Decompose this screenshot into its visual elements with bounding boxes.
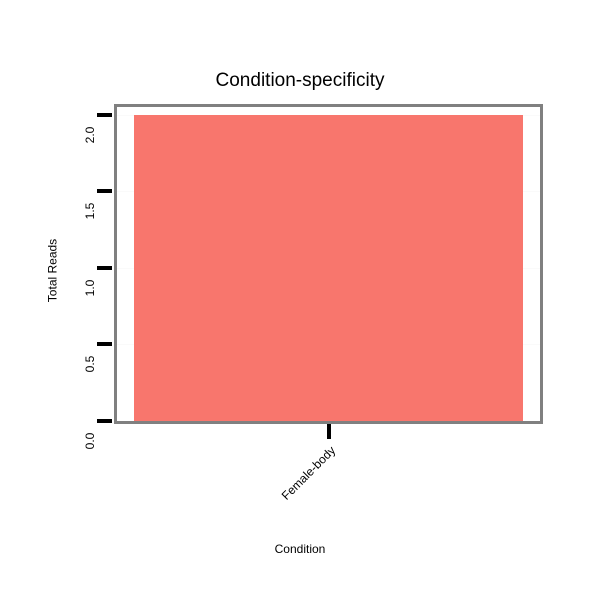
y-tick-mark bbox=[97, 419, 112, 423]
y-tick-mark bbox=[97, 266, 112, 270]
gridline bbox=[117, 421, 540, 422]
x-axis-title: Condition bbox=[0, 542, 600, 556]
y-tick-label: 0.0 bbox=[84, 421, 96, 461]
y-axis-title: Total Reads bbox=[47, 216, 60, 326]
chart-title: Condition-specificity bbox=[0, 70, 600, 92]
y-tick-mark bbox=[97, 113, 112, 117]
y-tick-label: 1.5 bbox=[84, 191, 96, 231]
y-tick-label: 0.5 bbox=[84, 344, 96, 384]
x-tick-mark bbox=[327, 424, 331, 439]
y-tick-label: 1.0 bbox=[84, 268, 96, 308]
plot-area bbox=[114, 104, 543, 424]
x-tick-label: Female-body bbox=[188, 444, 339, 595]
y-tick-label: 2.0 bbox=[84, 115, 96, 155]
y-tick-mark bbox=[97, 189, 112, 193]
y-tick-mark bbox=[97, 342, 112, 346]
bar-chart-figure: Condition-specificity 0.00.51.01.52.0 To… bbox=[0, 0, 600, 600]
bar bbox=[134, 115, 523, 421]
bars-layer bbox=[117, 107, 540, 421]
